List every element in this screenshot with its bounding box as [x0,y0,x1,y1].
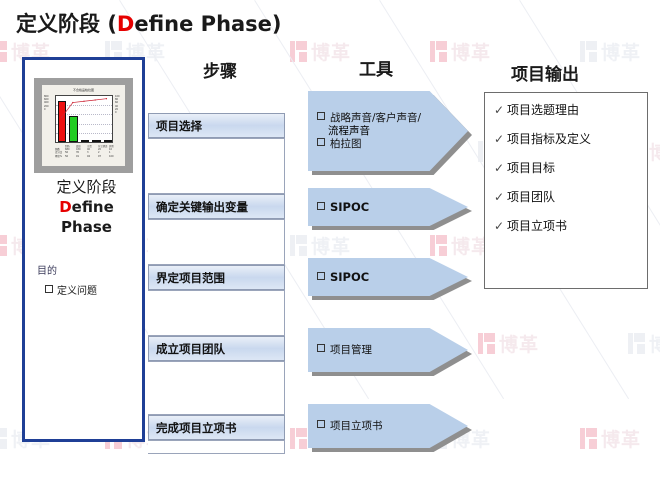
tool-label-2: 柏拉图 [317,138,468,151]
phase-name-en-line2: Phase [25,217,148,237]
step-connector-box [148,290,285,336]
check-icon: ✓ [494,218,507,235]
check-icon: ✓ [494,189,507,206]
square-bullet-icon [317,272,325,280]
step-box-5[interactable]: 完成项目立项书 [148,415,285,440]
column-header-output: 项目输出 [511,60,579,85]
output-item-label: 项目指标及定义 [507,131,591,148]
check-icon: ✓ [494,131,507,148]
column-header-steps: 步骤 [203,57,237,82]
phase-panel: 不合格品柏拉图 8006004002000 100806040200 [22,57,145,442]
step-box-2[interactable]: 确定关键输出变量 [148,194,285,219]
square-bullet-icon [45,285,53,293]
square-bullet-icon [317,112,325,120]
output-item-label: 项目团队 [507,189,555,206]
output-item: ✓项目指标及定义 [485,131,647,148]
chart-plot-area: 不合格品柏拉图 8006004002000 100806040200 [42,85,125,166]
purpose-item: 定义问题 [45,282,97,297]
step-connector-box [148,440,285,454]
slide-canvas: 博革博革博革博革博革博革博革博革博革博革博革博革博革博革博革博革博革博革博革博革… [0,0,660,495]
chart-cumulative-line [56,96,112,142]
tool-label: 战略声音/客户声音/ [317,112,468,125]
project-output-box: ✓项目选题理由✓项目指标及定义✓项目目标✓项目团队✓项目立项书 [484,92,648,289]
page-title-paren: ( [107,12,117,36]
step-label: 完成项目立项书 [156,420,237,436]
output-item-label: 项目立项书 [507,218,567,235]
purpose-label: 目的 [37,262,57,277]
step-label: 成立项目团队 [156,341,225,357]
square-bullet-icon [317,138,325,146]
check-icon: ✓ [494,160,507,177]
output-item: ✓项目团队 [485,189,647,206]
tool-label-cont: 流程声音 [317,125,468,138]
check-icon: ✓ [494,102,507,119]
step-label: 项目选择 [156,118,202,134]
step-label: 界定项目范围 [156,270,225,286]
page-title-cn: 定义阶段 [16,12,100,36]
step-connector-box [148,138,285,194]
pareto-chart-thumbnail: 不合格品柏拉图 8006004002000 100806040200 [34,78,133,173]
step-box-3[interactable]: 界定项目范围 [148,265,285,290]
output-item-label: 项目目标 [507,160,555,177]
chart-title: 不合格品柏拉图 [42,88,125,92]
tool-label: 项目管理 [317,344,468,357]
chart-y-axis-ticks: 8006004002000 [44,95,49,111]
chart-bars-and-line [55,95,113,143]
output-item: ✓项目目标 [485,160,647,177]
output-item: ✓项目立项书 [485,218,647,235]
chart-y2-axis-ticks: 100806040200 [115,95,120,114]
purpose-item-label: 定义问题 [57,286,97,297]
phase-name-cn: 定义阶段 [25,178,148,197]
step-connector-box [148,361,285,415]
step-label: 确定关键输出变量 [156,199,248,215]
step-connector-box [148,219,285,265]
column-header-tools: 工具 [359,55,393,80]
output-item-label: 项目选题理由 [507,102,579,119]
square-bullet-icon [317,420,325,428]
output-item: ✓项目选题理由 [485,102,647,119]
page-title: 定义阶段 (Define Phase) [16,8,282,38]
tool-label: SIPOC [317,201,468,214]
page-title-red-letter: D [117,12,134,36]
tool-label: SIPOC [317,271,468,284]
tool-label: 项目立项书 [317,420,468,433]
phase-name-en-line1: Define [25,197,148,217]
phase-name: 定义阶段 Define Phase [25,178,148,237]
page-title-en: efine Phase) [134,12,281,36]
square-bullet-icon [317,202,325,210]
step-box-1[interactable]: 项目选择 [148,113,285,138]
chart-data-table: 划伤变形污渍尺寸超差其他频数680430402010百分比5635321累积%5… [55,145,120,158]
step-box-4[interactable]: 成立项目团队 [148,336,285,361]
square-bullet-icon [317,344,325,352]
